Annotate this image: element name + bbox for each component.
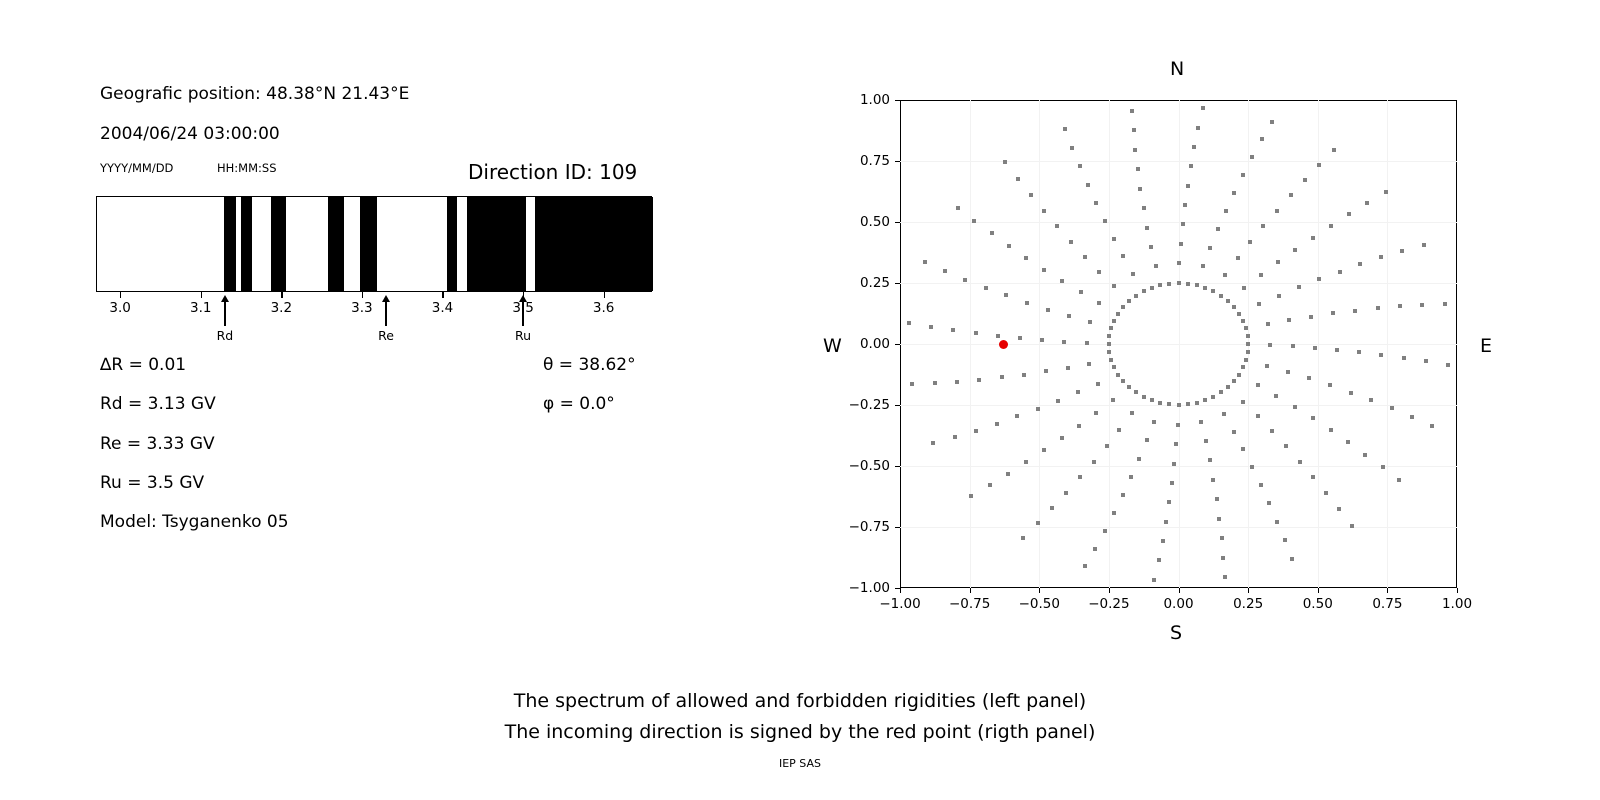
direction-point [1303, 178, 1307, 182]
direction-point [1311, 236, 1315, 240]
y-axis-tick-label: −0.50 [832, 458, 890, 474]
x-axis-tick-label: −0.25 [1088, 596, 1129, 612]
direction-point [1145, 438, 1149, 442]
direction-point [1381, 465, 1385, 469]
param-theta: θ = 38.62° [543, 355, 636, 375]
direction-point [1186, 184, 1190, 188]
direction-point [1196, 126, 1200, 130]
direction-point [1350, 524, 1354, 528]
direction-point [1337, 507, 1341, 511]
direction-point [1324, 491, 1328, 495]
direction-point [1116, 312, 1120, 316]
direction-point [1134, 390, 1138, 394]
forbidden-band [447, 197, 457, 291]
x-axis-tick [1318, 588, 1319, 593]
direction-point [974, 429, 978, 433]
direction-point [1186, 282, 1190, 286]
direction-point [984, 286, 988, 290]
gridline-horizontal [900, 344, 1457, 345]
direction-point [1132, 128, 1136, 132]
x-axis-tick [1039, 588, 1040, 593]
direction-point [1267, 501, 1271, 505]
gridline-horizontal [900, 527, 1457, 528]
direction-point [1167, 282, 1171, 286]
direction-point [1208, 246, 1212, 250]
y-axis-tick [895, 344, 900, 345]
direction-point [1268, 343, 1272, 347]
direction-point [1046, 308, 1050, 312]
direction-point [1335, 348, 1339, 352]
direction-point [1127, 299, 1131, 303]
direction-point [1109, 326, 1113, 330]
direction-point [1216, 227, 1220, 231]
y-axis-tick [895, 588, 900, 589]
direction-point [1000, 375, 1004, 379]
direction-point [1111, 398, 1115, 402]
direction-point [1121, 493, 1125, 497]
x-axis-tick [1248, 588, 1249, 593]
direction-point [1079, 290, 1083, 294]
direction-point [1400, 249, 1404, 253]
direction-point [1222, 412, 1226, 416]
direction-point [1094, 411, 1098, 415]
direction-point [1311, 416, 1315, 420]
y-axis-tick [895, 161, 900, 162]
direction-point [1317, 163, 1321, 167]
direction-point [1223, 575, 1227, 579]
direction-point [1256, 414, 1260, 418]
direction-point [1338, 270, 1342, 274]
direction-point [1313, 346, 1317, 350]
direction-point [1088, 320, 1092, 324]
direction-point [943, 269, 947, 273]
direction-point [1241, 173, 1245, 177]
direction-point [1103, 529, 1107, 533]
direction-point [1256, 383, 1260, 387]
direction-point [1142, 289, 1146, 293]
direction-point [1358, 262, 1362, 266]
direction-point [1309, 315, 1313, 319]
direction-point [1062, 340, 1066, 344]
direction-point [1353, 309, 1357, 313]
direction-point [1215, 497, 1219, 501]
direction-point [1331, 311, 1335, 315]
direction-point [1154, 264, 1158, 268]
direction-point [1246, 334, 1250, 338]
direction-point [988, 483, 992, 487]
param-delta-r: ∆R = 0.01 [100, 355, 186, 375]
direction-point [1283, 538, 1287, 542]
direction-point [1363, 453, 1367, 457]
direction-point [1177, 261, 1181, 265]
y-axis-tick-label: −0.75 [832, 519, 890, 535]
direction-point [1121, 379, 1125, 383]
direction-point [1129, 475, 1133, 479]
forbidden-band [224, 197, 237, 291]
direction-point [972, 219, 976, 223]
direction-point [1293, 248, 1297, 252]
direction-point [1221, 556, 1225, 560]
direction-point [1369, 398, 1373, 402]
direction-point [1183, 203, 1187, 207]
direction-point [1208, 458, 1212, 462]
direction-point [1410, 415, 1414, 419]
direction-point [1127, 385, 1131, 389]
direction-point [1232, 191, 1236, 195]
direction-point [974, 331, 978, 335]
direction-point [1237, 312, 1241, 316]
direction-point [1157, 558, 1161, 562]
param-model: Model: Tsyganenko 05 [100, 512, 289, 532]
direction-point [1287, 318, 1291, 322]
direction-point [1357, 350, 1361, 354]
direction-point [1277, 294, 1281, 298]
direction-point [1029, 193, 1033, 197]
direction-point [1050, 506, 1054, 510]
direction-point [956, 206, 960, 210]
direction-point [1220, 536, 1224, 540]
direction-point [1040, 338, 1044, 342]
x-axis-tick [1179, 588, 1180, 593]
direction-point [1242, 286, 1246, 290]
y-axis-tick-label: −0.25 [832, 397, 890, 413]
direction-point [1024, 460, 1028, 464]
x-axis-tick [1387, 588, 1388, 593]
direction-point [1224, 209, 1228, 213]
direction-point [1237, 373, 1241, 377]
direction-point [1152, 578, 1156, 582]
direction-point [1018, 336, 1022, 340]
direction-point [1087, 362, 1091, 366]
rigidity-marker-arrowhead [382, 295, 390, 302]
direction-point [1076, 390, 1080, 394]
direction-point [1150, 286, 1154, 290]
direction-point [969, 494, 973, 498]
x-axis-tick [970, 588, 971, 593]
direction-point [1161, 539, 1165, 543]
direction-point [1064, 491, 1068, 495]
forbidden-band [360, 197, 377, 291]
direction-point [1136, 167, 1140, 171]
direction-point [1167, 500, 1171, 504]
y-axis-tick-label: −1.00 [832, 580, 890, 596]
direction-point [1103, 219, 1107, 223]
x-axis-tick [900, 588, 901, 593]
y-axis-tick [895, 283, 900, 284]
direction-point [1107, 334, 1111, 338]
gridline-horizontal [900, 222, 1457, 223]
direction-point [1121, 254, 1125, 258]
direction-point [1172, 462, 1176, 466]
direction-point [1248, 240, 1252, 244]
axis-tick [201, 292, 202, 298]
spectrum-x-axis: 3.03.13.23.33.43.53.6RdReRu [96, 292, 652, 352]
direction-point [1096, 382, 1100, 386]
direction-point [1067, 314, 1071, 318]
footer-credit: IEP SAS [0, 757, 1600, 770]
direction-point [1069, 240, 1073, 244]
axis-tick-label: 3.4 [432, 300, 453, 316]
direction-point [1112, 284, 1116, 288]
param-rd: Rd = 3.13 GV [100, 394, 216, 414]
direction-point [1042, 209, 1046, 213]
direction-point [1226, 299, 1230, 303]
direction-point [1384, 190, 1388, 194]
direction-point [1055, 224, 1059, 228]
direction-point [1390, 406, 1394, 410]
direction-point [1004, 293, 1008, 297]
direction-point [1259, 483, 1263, 487]
direction-point [1244, 326, 1248, 330]
direction-point [929, 325, 933, 329]
direction-point [1332, 148, 1336, 152]
direction-point [955, 380, 959, 384]
direction-point [1199, 420, 1203, 424]
direction-point [1167, 402, 1171, 406]
direction-point [1158, 283, 1162, 287]
axis-tick-label: 3.3 [351, 300, 372, 316]
y-axis-tick-label: 0.75 [832, 153, 890, 169]
direction-point [1078, 475, 1082, 479]
direction-point [1270, 429, 1274, 433]
x-axis-tick [1457, 588, 1458, 593]
direction-point [1174, 442, 1178, 446]
direction-point [1189, 164, 1193, 168]
direction-point [1112, 511, 1116, 515]
direction-point [1186, 402, 1190, 406]
direction-point [1329, 428, 1333, 432]
direction-point [1232, 430, 1236, 434]
param-phi: φ = 0.0° [543, 394, 615, 414]
direction-point [951, 328, 955, 332]
direction-point [1107, 350, 1111, 354]
direction-point [1150, 398, 1154, 402]
direction-point [1201, 106, 1205, 110]
direction-point [1138, 187, 1142, 191]
direction-point [1164, 520, 1168, 524]
direction-point [1219, 390, 1223, 394]
direction-point [1133, 148, 1137, 152]
direction-point [1250, 465, 1254, 469]
direction-point [1257, 302, 1261, 306]
direction-point [1347, 212, 1351, 216]
direction-point [1203, 286, 1207, 290]
direction-point [1232, 379, 1236, 383]
caption-line-1: The spectrum of allowed and forbidden ri… [0, 686, 1600, 717]
selected-direction-point [999, 340, 1008, 349]
axis-tick [281, 292, 282, 298]
direction-point [1424, 359, 1428, 363]
direction-point [1006, 472, 1010, 476]
direction-point [1137, 457, 1141, 461]
direction-point [1105, 444, 1109, 448]
direction-point [1152, 420, 1156, 424]
direction-id-label: Direction ID: 109 [468, 160, 637, 184]
direction-point [933, 381, 937, 385]
forbidden-band [467, 197, 526, 291]
y-axis-tick [895, 527, 900, 528]
direction-point [1066, 366, 1070, 370]
direction-point [1266, 322, 1270, 326]
direction-point [995, 422, 999, 426]
axis-tick-label: 3.6 [593, 300, 614, 316]
direction-point [1003, 160, 1007, 164]
direction-point [1298, 460, 1302, 464]
direction-point [1134, 294, 1138, 298]
rigidity-marker-label: Rd [217, 328, 234, 343]
x-axis-tick [1109, 588, 1110, 593]
direction-point [1077, 424, 1081, 428]
forbidden-band [241, 197, 251, 291]
compass-label-east: E [1480, 335, 1492, 357]
direction-point [1275, 520, 1279, 524]
direction-point [1261, 224, 1265, 228]
direction-point [1259, 273, 1263, 277]
direction-point [1346, 440, 1350, 444]
direction-point [1379, 255, 1383, 259]
direction-point [1223, 273, 1227, 277]
direction-point [1083, 255, 1087, 259]
y-axis-tick-label: 1.00 [832, 92, 890, 108]
direction-point [1192, 145, 1196, 149]
y-axis-tick [895, 405, 900, 406]
direction-point [1063, 127, 1067, 131]
direction-point [1317, 277, 1321, 281]
direction-point [1130, 109, 1134, 113]
y-axis-tick [895, 222, 900, 223]
direction-point [1085, 341, 1089, 345]
axis-tick [604, 292, 605, 298]
forbidden-band [271, 197, 286, 291]
x-axis-tick-label: −0.75 [949, 596, 990, 612]
x-axis-tick-label: 0.00 [1163, 596, 1193, 612]
forbidden-band [535, 197, 653, 291]
direction-point [1015, 414, 1019, 418]
direction-point [1275, 209, 1279, 213]
direction-point [1211, 289, 1215, 293]
direction-point [1289, 193, 1293, 197]
direction-point [1093, 547, 1097, 551]
direction-point [1121, 305, 1125, 309]
direction-point [953, 435, 957, 439]
direction-point [1328, 383, 1332, 387]
direction-point [1116, 373, 1120, 377]
direction-point [1446, 363, 1450, 367]
direction-point [1398, 304, 1402, 308]
direction-point [1265, 364, 1269, 368]
direction-point [1094, 201, 1098, 205]
direction-point [1181, 222, 1185, 226]
direction-point [1297, 285, 1301, 289]
observation-datetime: 2004/06/24 03:00:00 [100, 124, 280, 144]
direction-point [1204, 439, 1208, 443]
direction-point [1149, 245, 1153, 249]
direction-point [1025, 301, 1029, 305]
direction-point [1211, 395, 1215, 399]
rigidity-marker-arrowhead [221, 295, 229, 302]
direction-point [1430, 424, 1434, 428]
y-axis-tick [895, 100, 900, 101]
direction-point [990, 231, 994, 235]
direction-point [1177, 403, 1181, 407]
forbidden-band [328, 197, 343, 291]
direction-point [1097, 301, 1101, 305]
direction-point [907, 321, 911, 325]
direction-point [1056, 399, 1060, 403]
direction-point [1274, 394, 1278, 398]
direction-point [1042, 268, 1046, 272]
direction-point [1060, 436, 1064, 440]
direction-point [910, 382, 914, 386]
direction-point [1286, 370, 1290, 374]
direction-point [1130, 411, 1134, 415]
direction-point [1217, 517, 1221, 521]
direction-point [1070, 146, 1074, 150]
direction-point [1112, 319, 1116, 323]
direction-point [1293, 405, 1297, 409]
direction-point [1203, 398, 1207, 402]
rigidity-marker-label: Ru [515, 328, 531, 343]
direction-point [1016, 177, 1020, 181]
direction-scatter-plot: −1.00−0.75−0.50−0.250.000.250.500.751.00… [900, 100, 1457, 588]
direction-point [1329, 224, 1333, 228]
axis-tick [120, 292, 121, 298]
direction-point [1211, 478, 1215, 482]
direction-point [1402, 356, 1406, 360]
direction-point [1195, 401, 1199, 405]
y-axis-tick-label: 0.00 [832, 336, 890, 352]
direction-point [1021, 536, 1025, 540]
gridline-horizontal [900, 161, 1457, 162]
geographic-position: Geografic position: 48.38°N 21.43°E [100, 84, 409, 104]
direction-point [1060, 279, 1064, 283]
direction-point [1042, 448, 1046, 452]
direction-point [1349, 391, 1353, 395]
time-format-hint: HH:MM:SS [217, 161, 277, 175]
x-axis-tick-label: 1.00 [1442, 596, 1472, 612]
direction-point [1176, 423, 1180, 427]
direction-point [1083, 564, 1087, 568]
direction-point [1112, 237, 1116, 241]
direction-point [1177, 281, 1181, 285]
direction-point [1142, 206, 1146, 210]
direction-point [1232, 305, 1236, 309]
direction-point [1241, 447, 1245, 451]
direction-point [1290, 557, 1294, 561]
direction-point [1311, 475, 1315, 479]
direction-point [1226, 385, 1230, 389]
direction-point [1195, 283, 1199, 287]
direction-point [1131, 272, 1135, 276]
direction-point [1158, 401, 1162, 405]
direction-point [1241, 319, 1245, 323]
direction-point [1241, 365, 1245, 369]
direction-point [1219, 294, 1223, 298]
x-axis-tick-label: 0.50 [1303, 596, 1333, 612]
rigidity-marker-label: Re [378, 328, 394, 343]
direction-point [1036, 407, 1040, 411]
axis-tick [442, 292, 443, 298]
y-axis-tick-label: 0.50 [832, 214, 890, 230]
direction-point [1022, 373, 1026, 377]
x-axis-tick-label: −0.50 [1019, 596, 1060, 612]
direction-point [1145, 226, 1149, 230]
direction-point [1307, 376, 1311, 380]
direction-point [977, 378, 981, 382]
direction-point [1097, 270, 1101, 274]
direction-point [963, 278, 967, 282]
direction-point [1107, 342, 1111, 346]
